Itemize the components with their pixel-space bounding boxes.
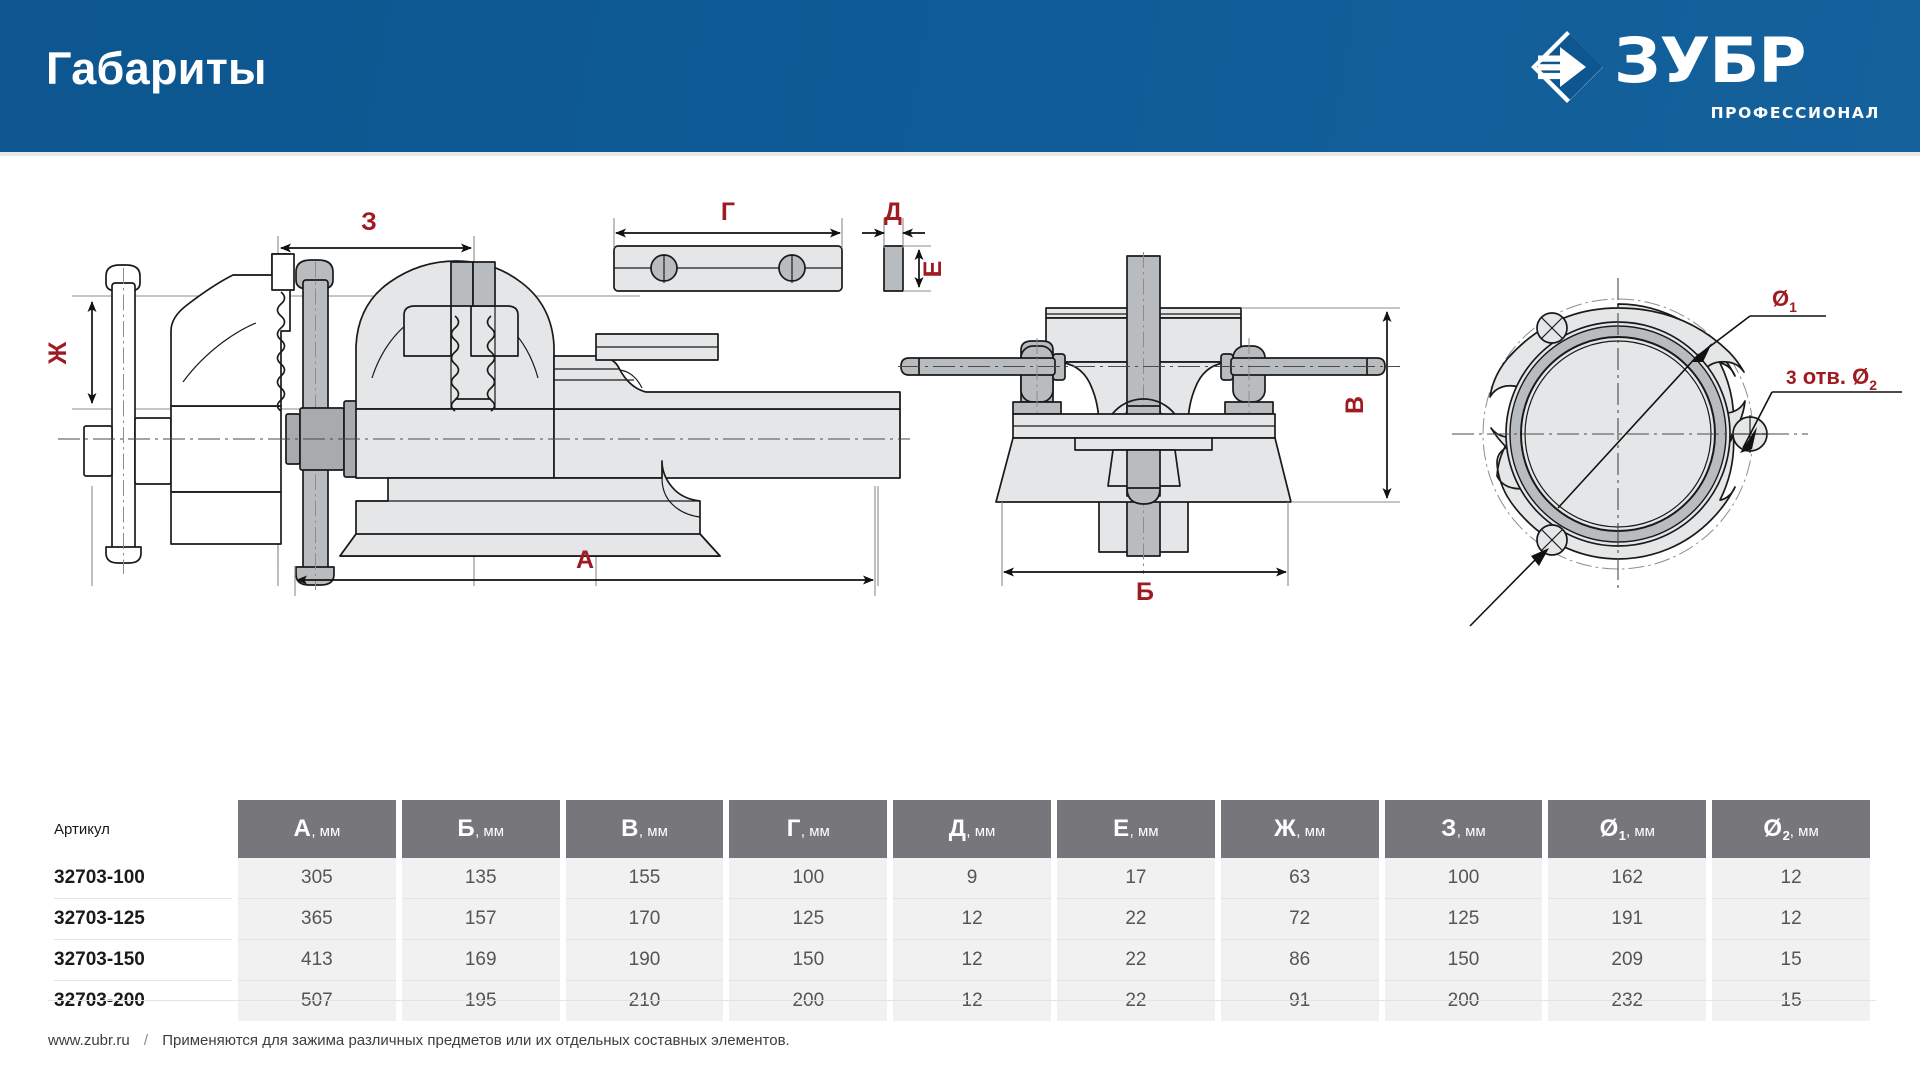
cell-value: 86 <box>1221 939 1379 980</box>
column-header-D1: Ø1, мм <box>1548 800 1706 858</box>
footer-description: Применяются для зажима различных предмет… <box>162 1032 790 1049</box>
cell-article: 32703-100 <box>54 858 232 898</box>
cell-value: 63 <box>1221 858 1379 898</box>
column-unit: , мм <box>966 823 995 840</box>
dimension-Z: З <box>281 208 471 248</box>
cell-value: 125 <box>1385 898 1543 939</box>
base-top-view: Ø1 3 отв. Ø2 <box>1452 278 1902 626</box>
column-symbol: Ø <box>1763 815 1782 842</box>
cell-value: 155 <box>566 858 724 898</box>
cell-value: 169 <box>402 939 560 980</box>
cell-value: 22 <box>1057 939 1215 980</box>
column-symbol: Б <box>457 815 475 842</box>
column-unit: , мм <box>1296 823 1325 840</box>
column-symbol: Г <box>787 815 801 842</box>
dimension-label-Z: З <box>361 208 377 236</box>
table-header-row: Артикул А, мм Б, мм В, мм Г, мм Д, мм Е,… <box>54 800 1870 858</box>
cell-article: 32703-150 <box>54 939 232 980</box>
cell-value: 72 <box>1221 898 1379 939</box>
column-header-E: Е, мм <box>1057 800 1215 858</box>
column-subscript: 1 <box>1619 828 1626 843</box>
column-unit: , мм <box>1790 823 1819 840</box>
column-unit: , мм <box>1130 823 1159 840</box>
cell-value: 157 <box>402 898 560 939</box>
dimension-label-D: Д <box>884 198 902 226</box>
zubr-wordmark: ЗУБР <box>1614 24 1805 98</box>
column-symbol: Ø <box>1600 815 1619 842</box>
table-bottom-rule <box>48 1000 1876 1001</box>
jaw-plate-detail: Г Д Е <box>614 198 947 291</box>
side-view-slide-bar <box>554 334 900 478</box>
dimension-label-B: Б <box>1136 578 1154 606</box>
column-unit: , мм <box>1457 823 1486 840</box>
cell-value: 170 <box>566 898 724 939</box>
mounting-hole-bottom-left <box>1537 525 1567 555</box>
dimension-label-A: А <box>576 546 594 574</box>
cell-value: 209 <box>1548 939 1706 980</box>
cell-value: 365 <box>238 898 396 939</box>
cell-value: 100 <box>1385 858 1543 898</box>
front-view: В Б <box>898 252 1400 606</box>
table-row: 32703-100 305 135 155 100 9 17 63 100 16… <box>54 858 1870 898</box>
dimension-E: Е <box>903 246 947 291</box>
cell-value: 9 <box>893 858 1051 898</box>
column-subscript: 2 <box>1783 828 1790 843</box>
cell-value: 12 <box>1712 898 1870 939</box>
page-header: Габариты ЗУБР ПРОФЕССИОНАЛ <box>0 0 1920 152</box>
column-unit: , мм <box>801 823 830 840</box>
cell-value: 17 <box>1057 858 1215 898</box>
column-header-V: В, мм <box>566 800 724 858</box>
cell-value: 100 <box>729 858 887 898</box>
cell-value: 22 <box>1057 898 1215 939</box>
page-footer: www.zubr.ru / Применяются для зажима раз… <box>48 1032 790 1049</box>
cell-value: 12 <box>1712 858 1870 898</box>
cell-value: 413 <box>238 939 396 980</box>
cell-value: 15 <box>1712 939 1870 980</box>
table-body: 32703-100 305 135 155 100 9 17 63 100 16… <box>54 858 1870 1021</box>
column-unit: , мм <box>1626 823 1655 840</box>
column-symbol: В <box>621 815 639 842</box>
dimension-label-ZH: Ж <box>44 341 72 365</box>
column-symbol: Е <box>1113 815 1130 842</box>
cell-value: 190 <box>566 939 724 980</box>
cell-value: 12 <box>893 939 1051 980</box>
dimension-label-E: Е <box>919 261 947 278</box>
column-header-ZH: Ж, мм <box>1221 800 1379 858</box>
column-header-D: Д, мм <box>893 800 1051 858</box>
column-symbol: Ж <box>1274 815 1296 842</box>
column-unit: , мм <box>311 823 340 840</box>
zubr-diamond-arrow-mark-icon <box>1530 30 1604 104</box>
dimension-G: Г <box>614 198 842 248</box>
zubr-tagline: ПРОФЕССИОНАЛ <box>1711 104 1880 122</box>
specifications-table: Артикул А, мм Б, мм В, мм Г, мм Д, мм Е,… <box>48 800 1876 1021</box>
cell-value: 135 <box>402 858 560 898</box>
technical-drawing: .ol{fill:none;stroke:#1a1a1a;stroke-widt… <box>0 156 1920 796</box>
side-view-fixed-jaw-body <box>356 261 554 478</box>
column-symbol: З <box>1441 815 1457 842</box>
footer-site-url[interactable]: www.zubr.ru <box>48 1032 130 1049</box>
column-unit: , мм <box>639 823 668 840</box>
table-row: 32703-125 365 157 170 125 12 22 72 125 1… <box>54 898 1870 939</box>
column-symbol: Д <box>949 815 967 842</box>
annotation-flange-pointer <box>1470 548 1549 626</box>
mounting-hole-top-left <box>1537 313 1567 343</box>
annotation-label-diameter-1: Ø1 <box>1772 286 1797 315</box>
page-title: Габариты <box>46 40 267 98</box>
cell-value: 150 <box>729 939 887 980</box>
column-symbol: А <box>293 815 311 842</box>
zubr-logo: ЗУБР ПРОФЕССИОНАЛ <box>1530 26 1882 126</box>
cell-value: 191 <box>1548 898 1706 939</box>
dimension-label-V: В <box>1341 396 1369 414</box>
cell-value: 162 <box>1548 858 1706 898</box>
cell-article: 32703-125 <box>54 898 232 939</box>
table-row: 32703-150 413 169 190 150 12 22 86 150 2… <box>54 939 1870 980</box>
cell-value: 12 <box>893 898 1051 939</box>
cell-value: 125 <box>729 898 887 939</box>
column-header-article: Артикул <box>54 800 232 858</box>
column-unit: , мм <box>475 823 504 840</box>
column-header-Z: З, мм <box>1385 800 1543 858</box>
dimension-ZH: Ж <box>44 302 92 403</box>
annotation-label-3-holes: 3 отв. Ø2 <box>1786 364 1877 393</box>
dimension-label-G: Г <box>721 198 735 226</box>
column-header-A: А, мм <box>238 800 396 858</box>
dimension-D: Д <box>862 198 925 248</box>
column-header-B: Б, мм <box>402 800 560 858</box>
column-header-D2: Ø2, мм <box>1712 800 1870 858</box>
footer-separator: / <box>134 1032 158 1049</box>
side-view-movable-jaw <box>171 254 294 411</box>
column-header-G: Г, мм <box>729 800 887 858</box>
cell-value: 150 <box>1385 939 1543 980</box>
cell-value: 305 <box>238 858 396 898</box>
